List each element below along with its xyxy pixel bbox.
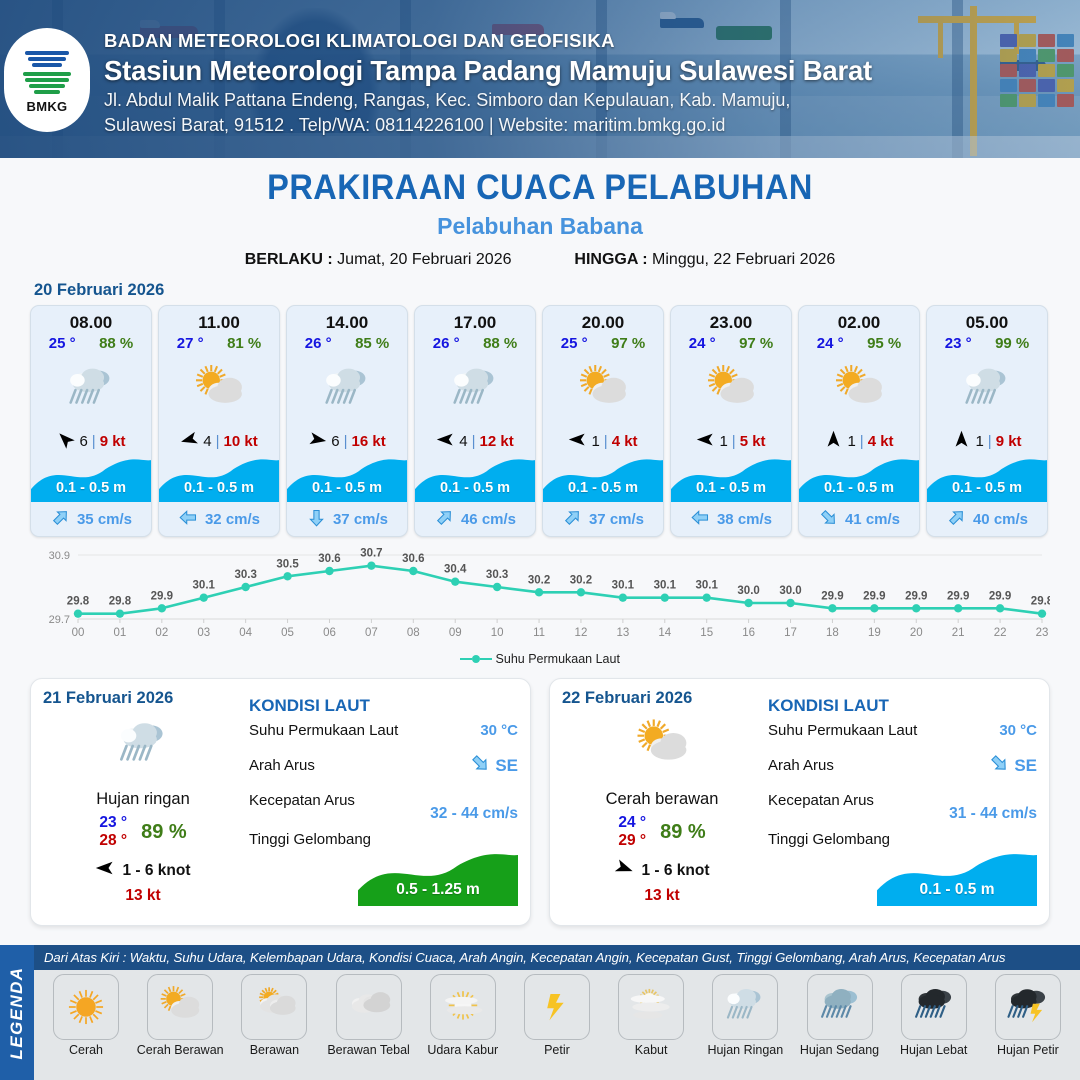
valid-from-label: BERLAKU : [245, 251, 333, 268]
chart-point-label: 29.9 [905, 590, 927, 602]
chart-xtick: 15 [700, 627, 713, 639]
chart-point [283, 572, 291, 580]
cerah-berawan-icon [572, 359, 634, 421]
cerah-icon [60, 981, 112, 1033]
legend-icon-tile [995, 974, 1061, 1040]
card-weather-icon-slot [287, 354, 407, 426]
hourly-card[interactable]: 11.00 27 ° 81 % 4 | 10 kt 0.1 - 0.5 m 32… [158, 305, 280, 537]
legend-strip: LEGENDA Dari Atas Kiri : Waktu, Suhu Uda… [0, 945, 1080, 1080]
hourly-forecast-cards: 08.00 25 ° 88 % 6 | 9 kt 0.1 - 0.5 m 35 … [0, 305, 1080, 537]
card-humidity: 97 % [611, 335, 645, 352]
berawan-icon [248, 981, 300, 1033]
wind-direction-arrow-icon [436, 430, 455, 449]
card-temperature: 25 ° [49, 335, 76, 352]
card-current-arrow-slot [946, 507, 967, 532]
chart-point [200, 593, 208, 601]
card-wind-dir: 4 [459, 433, 467, 450]
card-current-arrow-slot [818, 507, 839, 532]
chart-point [744, 599, 752, 607]
address-line-2: Sulawesi Barat, 91512 . Telp/WA: 0811422… [104, 114, 1064, 137]
hujan-petir-icon [1002, 981, 1054, 1033]
current-direction-arrow-icon [690, 507, 711, 528]
hourly-card[interactable]: 14.00 26 ° 85 % 6 | 16 kt 0.1 - 0.5 m 37… [286, 305, 408, 537]
chart-point [493, 583, 501, 591]
card-gust: 10 kt [224, 433, 258, 450]
hujan-lebat-icon [908, 981, 960, 1033]
daily-panel[interactable]: 22 Februari 2026 Cerah berawan 24 ° 29 °… [549, 678, 1050, 926]
card-wind-dir: 6 [331, 433, 339, 450]
chart-xtick: 10 [491, 627, 504, 639]
wind-direction-arrow-icon [95, 858, 115, 878]
card-wind-arrow-slot [696, 430, 715, 453]
daily-weather-icon-slot [43, 710, 243, 782]
legend-icon-tile [336, 974, 402, 1040]
kabut-icon [625, 981, 677, 1033]
card-current-value: 46 cm/s [461, 511, 516, 528]
wave-height-label: Tinggi Gelombang [249, 831, 371, 848]
card-wind-arrow-slot [568, 430, 587, 453]
current-direction-arrow-icon [988, 752, 1010, 774]
hourly-card[interactable]: 02.00 24 ° 95 % 1 | 4 kt 0.1 - 0.5 m 41 … [798, 305, 920, 537]
current-dir-value-group: SE [988, 752, 1037, 779]
card-time: 11.00 [159, 306, 279, 335]
card-current-value: 41 cm/s [845, 511, 900, 528]
chart-xtick: 19 [868, 627, 881, 639]
card-temperature: 24 ° [817, 335, 844, 352]
cerah-berawan-icon [828, 359, 890, 421]
chart-point-label: 30.1 [612, 580, 635, 592]
daily-date: 22 Februari 2026 [562, 689, 762, 708]
chart-point [74, 609, 82, 617]
legend-item-label: Hujan Petir [997, 1043, 1059, 1057]
card-wave: 0.1 - 0.5 m [287, 456, 407, 502]
current-direction-arrow-icon [818, 507, 839, 528]
card-current: 37 cm/s [287, 502, 407, 536]
org-name: BADAN METEOROLOGI KLIMATOLOGI DAN GEOFIS… [104, 30, 1064, 52]
chart-xtick: 01 [114, 627, 127, 639]
bmkg-emblem-icon [19, 47, 75, 97]
daily-wind-speed: 1 - 6 knot [122, 862, 190, 880]
chart-point-label: 30.1 [654, 580, 677, 592]
cerah-berawan-icon [154, 981, 206, 1033]
card-current: 32 cm/s [159, 502, 279, 536]
hujan-ringan-icon [316, 359, 378, 421]
chart-point [870, 604, 878, 612]
card-temperature: 24 ° [689, 335, 716, 352]
daily-condition: Cerah berawan [562, 790, 762, 809]
card-time: 02.00 [799, 306, 919, 335]
wave-height-label: Tinggi Gelombang [768, 831, 890, 848]
card-weather-icon-slot [415, 354, 535, 426]
legend-icon-tile [807, 974, 873, 1040]
legend-item-label: Berawan Tebal [327, 1043, 409, 1057]
current-direction-arrow-icon [469, 752, 491, 774]
card-wave: 0.1 - 0.5 m [671, 456, 791, 502]
card-wind: 4 | 12 kt [415, 426, 535, 456]
chart-xtick: 00 [72, 627, 85, 639]
card-current-value: 37 cm/s [589, 511, 644, 528]
udara-kabur-icon [437, 981, 489, 1033]
chart-xtick: 07 [365, 627, 378, 639]
daily-gust: 13 kt [43, 887, 243, 905]
legend-icon-tile [901, 974, 967, 1040]
chart-point-label: 30.2 [570, 574, 592, 586]
cerah-berawan-icon [188, 359, 250, 421]
card-humidity: 88 % [483, 335, 517, 352]
card-current-value: 35 cm/s [77, 511, 132, 528]
page-title: PRAKIRAAN CUACA PELABUHAN [38, 168, 1042, 208]
legend-note: Dari Atas Kiri : Waktu, Suhu Udara, Kele… [34, 945, 1080, 970]
card-wind-arrow-slot [952, 430, 971, 453]
hujan-ringan-icon [956, 359, 1018, 421]
chart-point-label: 30.6 [402, 553, 424, 565]
chart-point-label: 30.2 [528, 574, 550, 586]
legend-item-label: Hujan Lebat [900, 1043, 967, 1057]
daily-weather-icon-slot [562, 710, 762, 782]
hourly-card[interactable]: 17.00 26 ° 88 % 4 | 12 kt 0.1 - 0.5 m 46… [414, 305, 536, 537]
current-dir-value: SE [495, 756, 518, 776]
chart-point [702, 593, 710, 601]
sst-label: Suhu Permukaan Laut [249, 722, 398, 739]
petir-icon [531, 981, 583, 1033]
chart-xtick: 03 [197, 627, 210, 639]
valid-to-value: Minggu, 22 Februari 2026 [652, 251, 835, 268]
cerah-berawan-icon [629, 713, 695, 779]
card-wind: 1 | 4 kt [543, 426, 663, 456]
chart-point [158, 604, 166, 612]
hourly-date-label: 20 Februari 2026 [34, 281, 1080, 300]
chart-point [535, 588, 543, 596]
wind-direction-arrow-icon [180, 430, 199, 449]
card-humidity: 97 % [739, 335, 773, 352]
chart-point [954, 604, 962, 612]
chart-point-label: 30.1 [193, 580, 216, 592]
chart-point [577, 588, 585, 596]
legend-item: Kabut [605, 974, 697, 1078]
legend-item: Udara Kabur [417, 974, 509, 1078]
title-block: PRAKIRAAN CUACA PELABUHAN Pelabuhan Baba… [0, 158, 1080, 269]
card-current: 40 cm/s [927, 502, 1047, 536]
card-wind-arrow-slot [180, 430, 199, 453]
card-wave-value: 0.1 - 0.5 m [543, 480, 663, 496]
hourly-card[interactable]: 20.00 25 ° 97 % 1 | 4 kt 0.1 - 0.5 m 37 … [542, 305, 664, 537]
chart-xtick: 20 [910, 627, 923, 639]
chart-point [241, 583, 249, 591]
chart-point [116, 609, 124, 617]
wind-direction-arrow-icon [56, 430, 75, 449]
card-gust: 9 kt [996, 433, 1022, 450]
wind-direction-arrow-icon [696, 430, 715, 449]
legend-item-label: Hujan Ringan [707, 1043, 783, 1057]
chart-legend: Suhu Permukaan Laut [30, 652, 1050, 666]
card-wind-dir: 6 [79, 433, 87, 450]
current-direction-arrow-icon [50, 507, 71, 528]
hujan-ringan-icon [110, 713, 176, 779]
chart-point-label: 29.8 [109, 596, 132, 608]
chart-ytick-max: 30.9 [49, 550, 70, 562]
legend-item-label: Cerah Berawan [137, 1043, 224, 1057]
daily-temp-max: 29 ° [618, 832, 646, 850]
card-wind: 6 | 9 kt [31, 426, 151, 456]
chart-point [661, 593, 669, 601]
chart-xtick: 18 [826, 627, 839, 639]
daily-wind: 1 - 6 knot [562, 858, 762, 883]
card-wind: 1 | 5 kt [671, 426, 791, 456]
chart-xtick: 09 [449, 627, 462, 639]
card-wind-dir: 4 [203, 433, 211, 450]
card-humidity: 88 % [99, 335, 133, 352]
card-current-value: 32 cm/s [205, 511, 260, 528]
station-name: Stasiun Meteorologi Tampa Padang Mamuju … [104, 55, 1064, 87]
current-direction-arrow-icon [562, 507, 583, 528]
daily-wave-value: 0.5 - 1.25 m [358, 881, 518, 899]
chart-point [409, 567, 417, 575]
chart-line [78, 566, 1042, 614]
card-wave: 0.1 - 0.5 m [31, 456, 151, 502]
card-gust: 9 kt [100, 433, 126, 450]
valid-to-label: HINGGA : [574, 251, 647, 268]
chart-point [912, 604, 920, 612]
card-current: 35 cm/s [31, 502, 151, 536]
card-current: 46 cm/s [415, 502, 535, 536]
chart-xtick: 14 [658, 627, 671, 639]
card-wind-arrow-slot [56, 430, 75, 453]
card-weather-icon-slot [31, 354, 151, 426]
chart-xtick: 04 [239, 627, 252, 639]
daily-gust: 13 kt [562, 887, 762, 905]
daily-condition: Hujan ringan [43, 790, 243, 809]
sst-label: Suhu Permukaan Laut [768, 722, 917, 739]
card-wind-dir: 1 [591, 433, 599, 450]
card-weather-icon-slot [799, 354, 919, 426]
chart-xtick: 17 [784, 627, 797, 639]
card-temperature: 26 ° [433, 335, 460, 352]
chart-point-label: 29.9 [821, 590, 843, 602]
legend-item: Cerah [40, 974, 132, 1078]
chart-point-label: 29.8 [1031, 596, 1050, 608]
card-gust: 12 kt [480, 433, 514, 450]
card-wave: 0.1 - 0.5 m [159, 456, 279, 502]
daily-temp-max: 28 ° [99, 832, 127, 850]
current-dir-value-group: SE [469, 752, 518, 779]
card-wind-dir: 1 [975, 433, 983, 450]
card-weather-icon-slot [927, 354, 1047, 426]
card-gust: 5 kt [740, 433, 766, 450]
chart-point-label: 29.9 [989, 590, 1011, 602]
card-wave-value: 0.1 - 0.5 m [927, 480, 1047, 496]
legend-item: Hujan Lebat [888, 974, 980, 1078]
hujan-ringan-icon [444, 359, 506, 421]
wind-direction-arrow-icon [568, 430, 587, 449]
card-temperature: 25 ° [561, 335, 588, 352]
card-wind-arrow-slot [308, 430, 327, 453]
daily-temp-min: 23 ° [99, 814, 127, 832]
daily-wind: 1 - 6 knot [43, 858, 243, 883]
card-wave: 0.1 - 0.5 m [415, 456, 535, 502]
wind-direction-arrow-icon [952, 430, 971, 449]
hourly-card[interactable]: 05.00 23 ° 99 % 1 | 9 kt 0.1 - 0.5 m 40 … [926, 305, 1048, 537]
daily-wave-badge: 0.5 - 1.25 m [358, 850, 518, 906]
current-speed-label: Kecepatan Arus [768, 792, 874, 809]
card-wind: 1 | 4 kt [799, 426, 919, 456]
legend-icon-tile [53, 974, 119, 1040]
card-time: 23.00 [671, 306, 791, 335]
legend-icon-tile [524, 974, 590, 1040]
chart-xtick: 05 [281, 627, 294, 639]
card-current-arrow-slot [434, 507, 455, 532]
legend-item: Hujan Sedang [794, 974, 886, 1078]
chart-xtick: 22 [994, 627, 1007, 639]
chart-point [367, 561, 375, 569]
legend-item-label: Kabut [635, 1043, 668, 1057]
legend-item-label: Hujan Sedang [800, 1043, 879, 1057]
card-humidity: 95 % [867, 335, 901, 352]
chart-point [996, 604, 1004, 612]
legend-icon-tile [430, 974, 496, 1040]
card-wave-value: 0.1 - 0.5 m [799, 480, 919, 496]
hourly-card[interactable]: 23.00 24 ° 97 % 1 | 5 kt 0.1 - 0.5 m 38 … [670, 305, 792, 537]
daily-current-arrow-slot [988, 752, 1010, 779]
legend-icon-tile [618, 974, 684, 1040]
card-humidity: 81 % [227, 335, 261, 352]
card-current-value: 37 cm/s [333, 511, 388, 528]
card-wave-value: 0.1 - 0.5 m [671, 480, 791, 496]
chart-point-label: 30.4 [444, 564, 467, 576]
legend-item-label: Udara Kabur [427, 1043, 498, 1057]
card-gust: 4 kt [868, 433, 894, 450]
card-wave-value: 0.1 - 0.5 m [31, 480, 151, 496]
legend-item: Berawan Tebal [323, 974, 415, 1078]
port-name: Pelabuhan Babana [0, 213, 1080, 240]
card-humidity: 85 % [355, 335, 389, 352]
sst-value: 30 °C [480, 722, 518, 739]
legend-item: Berawan [228, 974, 320, 1078]
card-wind-arrow-slot [824, 430, 843, 453]
legend-item: Petir [511, 974, 603, 1078]
chart-xtick: 11 [533, 627, 545, 639]
sea-conditions-title: KONDISI LAUT [768, 696, 1037, 716]
card-current-arrow-slot [562, 507, 583, 532]
current-direction-arrow-icon [178, 507, 199, 528]
current-dir-label: Arah Arus [249, 757, 315, 774]
legend-item-label: Berawan [250, 1043, 299, 1057]
card-weather-icon-slot [543, 354, 663, 426]
card-wave-value: 0.1 - 0.5 m [287, 480, 407, 496]
card-wind-arrow-slot [436, 430, 455, 453]
chart-point-label: 30.7 [360, 548, 382, 560]
card-current-arrow-slot [690, 507, 711, 532]
chart-point-label: 30.1 [696, 580, 719, 592]
sst-chart: 30.929.700010203040506070809101112131415… [0, 545, 1080, 666]
chart-point-label: 30.0 [779, 585, 801, 597]
legend-item: Cerah Berawan [134, 974, 226, 1078]
daily-panel[interactable]: 21 Februari 2026 Hujan ringan 23 ° 28 ° … [30, 678, 531, 926]
daily-current-arrow-slot [469, 752, 491, 779]
hourly-card[interactable]: 08.00 25 ° 88 % 6 | 9 kt 0.1 - 0.5 m 35 … [30, 305, 152, 537]
cerah-berawan-icon [700, 359, 762, 421]
card-wind: 4 | 10 kt [159, 426, 279, 456]
page-header: BMKG BADAN METEOROLOGI KLIMATOLOGI DAN G… [0, 0, 1080, 158]
card-time: 05.00 [927, 306, 1047, 335]
card-wave-value: 0.1 - 0.5 m [415, 480, 535, 496]
address-line-1: Jl. Abdul Malik Pattana Endeng, Rangas, … [104, 89, 1064, 112]
berawan-tebal-icon [343, 981, 395, 1033]
chart-point-label: 30.5 [276, 558, 299, 570]
legend-item-label: Petir [544, 1043, 570, 1057]
daily-wave-badge: 0.1 - 0.5 m [877, 850, 1037, 906]
card-weather-icon-slot [671, 354, 791, 426]
current-direction-arrow-icon [434, 507, 455, 528]
hujan-sedang-icon [814, 981, 866, 1033]
card-wave: 0.1 - 0.5 m [799, 456, 919, 502]
card-gust: 4 kt [612, 433, 638, 450]
daily-wind-speed: 1 - 6 knot [641, 862, 709, 880]
chart-point [828, 604, 836, 612]
card-wave: 0.1 - 0.5 m [543, 456, 663, 502]
chart-point [325, 567, 333, 575]
legend-icon-tile [147, 974, 213, 1040]
card-current-arrow-slot [306, 507, 327, 532]
card-temperature: 26 ° [305, 335, 332, 352]
chart-point-label: 30.3 [234, 569, 256, 581]
valid-from-value: Jumat, 20 Februari 2026 [337, 251, 511, 268]
chart-xtick: 08 [407, 627, 420, 639]
card-humidity: 99 % [995, 335, 1029, 352]
chart-xtick: 13 [616, 627, 629, 639]
daily-wave-value: 0.1 - 0.5 m [877, 881, 1037, 899]
daily-humidity: 89 % [141, 821, 187, 844]
card-current: 41 cm/s [799, 502, 919, 536]
current-dir-label: Arah Arus [768, 757, 834, 774]
validity-range: BERLAKU : Jumat, 20 Februari 2026 HINGGA… [0, 251, 1080, 269]
card-wind: 6 | 16 kt [287, 426, 407, 456]
card-current: 37 cm/s [543, 502, 663, 536]
card-wave: 0.1 - 0.5 m [927, 456, 1047, 502]
legend-item-label: Cerah [69, 1043, 103, 1057]
daily-wind-arrow-slot [614, 858, 634, 883]
daily-humidity: 89 % [660, 821, 706, 844]
card-time: 20.00 [543, 306, 663, 335]
card-wind-dir: 1 [847, 433, 855, 450]
chart-point-label: 29.9 [947, 590, 969, 602]
current-dir-value: SE [1014, 756, 1037, 776]
sea-conditions-title: KONDISI LAUT [249, 696, 518, 716]
card-temperature: 27 ° [177, 335, 204, 352]
card-gust: 16 kt [352, 433, 386, 450]
chart-xtick: 16 [742, 627, 755, 639]
sst-value: 30 °C [999, 722, 1037, 739]
card-temperature: 23 ° [945, 335, 972, 352]
chart-legend-label: Suhu Permukaan Laut [496, 652, 620, 666]
card-time: 08.00 [31, 306, 151, 335]
current-direction-arrow-icon [306, 507, 327, 528]
wind-direction-arrow-icon [614, 858, 634, 878]
chart-xtick: 21 [952, 627, 965, 639]
card-wind: 1 | 9 kt [927, 426, 1047, 456]
legend-item: Hujan Petir [982, 974, 1074, 1078]
chart-point-label: 29.9 [863, 590, 885, 602]
current-direction-arrow-icon [946, 507, 967, 528]
card-wind-dir: 1 [719, 433, 727, 450]
hujan-ringan-icon [719, 981, 771, 1033]
chart-point-label: 30.6 [318, 553, 340, 565]
chart-xtick: 06 [323, 627, 336, 639]
chart-point [786, 599, 794, 607]
legend-icon-tile [241, 974, 307, 1040]
card-wave-value: 0.1 - 0.5 m [159, 480, 279, 496]
chart-point-label: 29.8 [67, 596, 90, 608]
card-current-arrow-slot [50, 507, 71, 532]
